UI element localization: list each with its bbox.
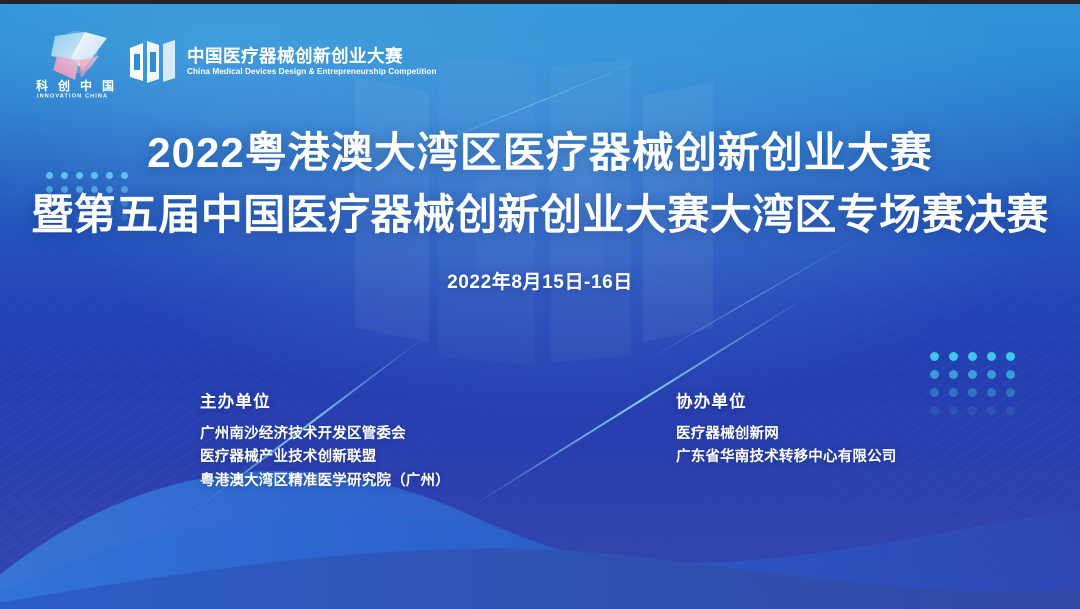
top-strip <box>0 0 1080 4</box>
svg-text:INNOVATION CHINA: INNOVATION CHINA <box>37 94 108 99</box>
co-organizer-item: 广东省华南技术转移中心有限公司 <box>676 446 897 469</box>
co-organizers: 协办单位 医疗器械创新网 广东省华南技术转移中心有限公司 <box>676 388 897 470</box>
host-organizer-item: 医疗器械产业技术创新联盟 <box>200 446 450 469</box>
competition-logo: 中国医疗器械创新创业大赛 China Medical Devices Desig… <box>128 36 437 88</box>
title-line-2: 暨第五届中国医疗器械创新创业大赛大湾区专场赛决赛 <box>0 190 1080 240</box>
competition-logo-cn: 中国医疗器械创新创业大赛 <box>187 48 437 66</box>
event-poster: 科 创 中 国 INNOVATION CHINA 中国医疗器械创新创业大赛 Ch… <box>0 0 1080 609</box>
event-date: 2022年8月15日-16日 <box>0 267 1080 294</box>
host-organizers-title: 主办单位 <box>200 388 450 412</box>
svg-text:科: 科 <box>36 78 48 93</box>
co-organizer-item: 医疗器械创新网 <box>676 423 897 446</box>
open-door-icon <box>128 39 178 85</box>
title-line-1: 2022粤港澳大湾区医疗器械创新创业大赛 <box>0 128 1080 178</box>
host-organizer-item: 粤港澳大湾区精准医学研究院（广州） <box>200 470 450 493</box>
header-logos: 科 创 中 国 INNOVATION CHINA 中国医疗器械创新创业大赛 Ch… <box>0 0 1080 110</box>
dot-grid-right <box>930 352 1025 424</box>
bottom-wave-arcs <box>0 419 1080 609</box>
svg-text:国: 国 <box>102 79 114 93</box>
svg-text:中: 中 <box>80 78 92 93</box>
competition-logo-en: China Medical Devices Design & Entrepren… <box>187 68 437 76</box>
innovation-china-bird-logo: 科 创 中 国 INNOVATION CHINA <box>33 26 128 98</box>
co-organizers-title: 协办单位 <box>676 388 897 412</box>
host-organizer-item: 广州南沙经济技术开发区管委会 <box>200 423 450 446</box>
host-organizers: 主办单位 广州南沙经济技术开发区管委会 医疗器械产业技术创新联盟 粤港澳大湾区精… <box>200 388 450 493</box>
headline-block: 2022粤港澳大湾区医疗器械创新创业大赛 暨第五届中国医疗器械创新创业大赛大湾区… <box>0 128 1080 294</box>
svg-text:创: 创 <box>57 78 70 93</box>
